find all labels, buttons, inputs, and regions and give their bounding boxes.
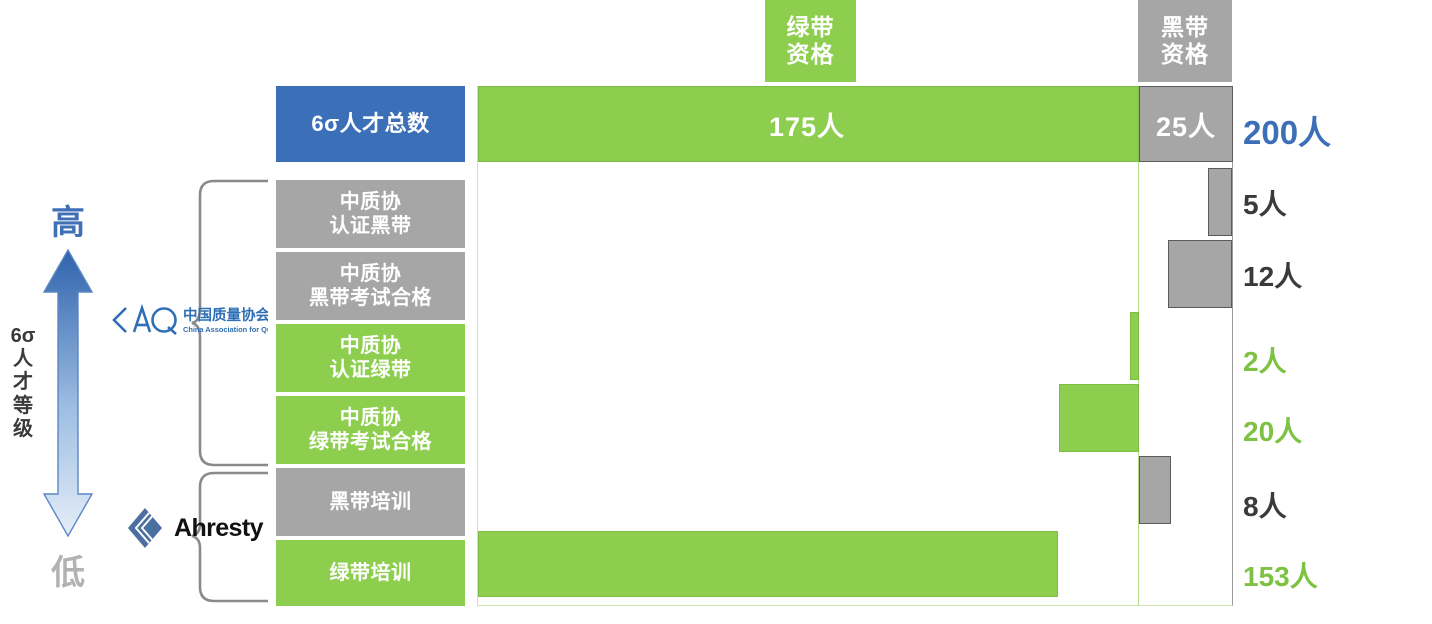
row-label-green-belt-training[interactable]: 绿带培训 <box>276 540 465 606</box>
row-label-4-line-1: 绿带考试合格 <box>309 430 432 454</box>
double-headed-vertical-arrow-icon <box>42 248 94 538</box>
slide-canvas: 高 低 6σ 人 才 等 级 <box>0 0 1432 624</box>
axis-vchar-1: 人 <box>8 348 38 371</box>
ahresty-wordmark: Ahresty <box>174 514 263 543</box>
row-label-1-line-1: 认证黑带 <box>330 214 412 238</box>
value-black-belt-training: 8人 <box>1243 485 1373 525</box>
bar-caq-green-belt-exam-pass[interactable] <box>1059 384 1139 452</box>
row-label-3-line-1: 认证绿带 <box>330 358 412 382</box>
row-label-caq-black-belt-exam-pass[interactable]: 中质协 黑带考试合格 <box>276 252 465 320</box>
value-caq-certified-black-belt: 5人 <box>1243 183 1373 223</box>
axis-low-label: 低 <box>30 545 106 594</box>
bar-green-belt-training[interactable] <box>478 531 1058 597</box>
header-green-belt-qualification: 绿带 资格 <box>765 0 856 82</box>
row-label-3-line-0: 中质协 <box>340 334 402 358</box>
header-green-line-0: 绿带 <box>787 14 835 41</box>
axis-high-label: 高 <box>30 195 106 244</box>
row-label-2-line-1: 黑带考试合格 <box>309 286 432 310</box>
ahresty-diamond-icon <box>125 506 165 550</box>
row-label-1-line-0: 中质协 <box>340 190 402 214</box>
bar-total-black-belt[interactable]: 25人 <box>1139 86 1233 162</box>
row-label-6-line-0: 绿带培训 <box>330 561 412 585</box>
axis-vertical-label: 6σ 人 才 等 级 <box>8 325 38 441</box>
value-caq-certified-green-belt: 2人 <box>1243 340 1373 380</box>
caq-logo-en: China Association for Quality <box>183 325 268 334</box>
ahresty-logo: Ahresty <box>125 505 265 551</box>
bar-total-green-value: 175人 <box>479 87 1138 161</box>
axis-vchar-2: 才 <box>8 371 38 394</box>
value-caq-black-belt-exam-pass: 12人 <box>1243 255 1373 295</box>
row-label-total-line-0: 6σ人才总数 <box>311 111 429 137</box>
caq-logo-cn: 中国质量协会 <box>183 306 268 324</box>
chart-plot-area: 175人 25人 <box>477 86 1233 606</box>
plot-frame <box>477 86 1233 606</box>
row-label-total[interactable]: 6σ人才总数 <box>276 86 465 162</box>
row-label-caq-green-belt-exam-pass[interactable]: 中质协 绿带考试合格 <box>276 396 465 464</box>
row-label-caq-certified-green-belt[interactable]: 中质协 认证绿带 <box>276 324 465 392</box>
bar-caq-certified-black-belt[interactable] <box>1208 168 1232 236</box>
axis-vchar-3: 等 <box>8 395 38 418</box>
axis-vchar-4: 级 <box>8 418 38 441</box>
value-green-belt-training: 153人 <box>1243 555 1373 595</box>
header-black-line-1: 资格 <box>1161 41 1209 68</box>
value-total: 200人 <box>1243 106 1373 154</box>
row-label-black-belt-training[interactable]: 黑带培训 <box>276 468 465 536</box>
header-black-line-0: 黑带 <box>1161 14 1209 41</box>
header-black-belt-qualification: 黑带 资格 <box>1138 0 1232 82</box>
row-label-4-line-0: 中质协 <box>340 406 402 430</box>
bar-black-belt-training[interactable] <box>1139 456 1171 524</box>
header-green-line-1: 资格 <box>787 41 835 68</box>
row-label-5-line-0: 黑带培训 <box>330 490 412 514</box>
row-label-caq-certified-black-belt[interactable]: 中质协 认证黑带 <box>276 180 465 248</box>
value-caq-green-belt-exam-pass: 20人 <box>1243 410 1373 450</box>
bar-total-green-belt[interactable]: 175人 <box>478 86 1139 162</box>
bar-caq-black-belt-exam-pass[interactable] <box>1168 240 1232 308</box>
row-label-2-line-0: 中质协 <box>340 262 402 286</box>
axis-vchar-0: 6σ <box>8 325 38 348</box>
caq-logo: 中国质量协会 China Association for Quality <box>110 300 268 340</box>
bar-total-black-value: 25人 <box>1140 87 1232 161</box>
bar-caq-certified-green-belt[interactable] <box>1130 312 1139 380</box>
